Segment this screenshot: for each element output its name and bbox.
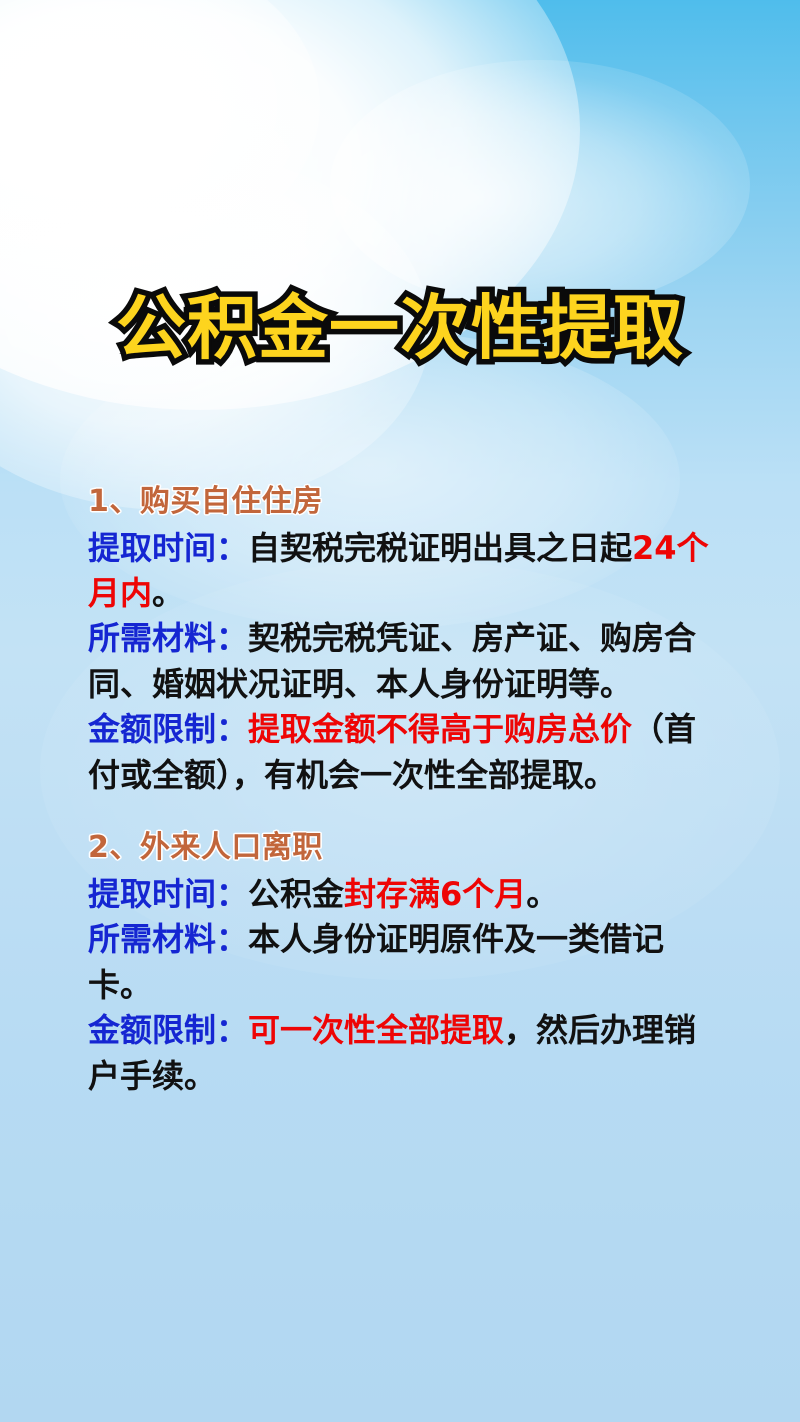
entry-text: 。 [152,574,184,612]
content-entry: 金额限制：提取金额不得高于购房总价（首付或全额），有机会一次性全部提取。 [88,707,712,798]
title-container: 公积金一次性提取 [0,292,800,366]
poster-title: 公积金一次性提取 [116,292,684,366]
content-section: 2、外来人口离职提取时间：公积金封存满6个月。所需材料：本人身份证明原件及一类借… [88,828,712,1099]
entry-text-highlight: 可一次性全部提取 [248,1011,504,1049]
entry-label: 所需材料： [88,920,248,958]
entry-label: 金额限制： [88,1011,248,1049]
content-entry: 金额限制：可一次性全部提取，然后办理销户手续。 [88,1008,712,1099]
entry-text-highlight: 封存满6个月 [344,875,526,913]
section-heading: 1、购买自住住房 [88,482,712,522]
content-entry: 所需材料：本人身份证明原件及一类借记卡。 [88,917,712,1008]
poster-canvas: 公积金一次性提取 1、购买自住住房提取时间：自契税完税证明出具之日起24个月内。… [0,0,800,1422]
entry-label: 金额限制： [88,710,248,748]
entry-label: 提取时间： [88,529,248,567]
entry-text: 。 [526,875,558,913]
entry-label: 提取时间： [88,875,248,913]
section-heading: 2、外来人口离职 [88,828,712,868]
content-entry: 提取时间：自契税完税证明出具之日起24个月内。 [88,526,712,617]
entry-text: 公积金 [248,875,344,913]
entry-text: 自契税完税证明出具之日起 [248,529,632,567]
content-section: 1、购买自住住房提取时间：自契税完税证明出具之日起24个月内。所需材料：契税完税… [88,482,712,798]
content-body: 1、购买自住住房提取时间：自契税完税证明出具之日起24个月内。所需材料：契税完税… [88,482,712,1099]
content-entry: 所需材料：契税完税凭证、房产证、购房合同、婚姻状况证明、本人身份证明等。 [88,616,712,707]
cloud-shape-wisp-right [330,60,750,310]
entry-label: 所需材料： [88,619,248,657]
entry-text-highlight: 提取金额不得高于购房总价 [248,710,632,748]
cloud-shape-upper-left [0,0,320,270]
content-entry: 提取时间：公积金封存满6个月。 [88,872,712,917]
